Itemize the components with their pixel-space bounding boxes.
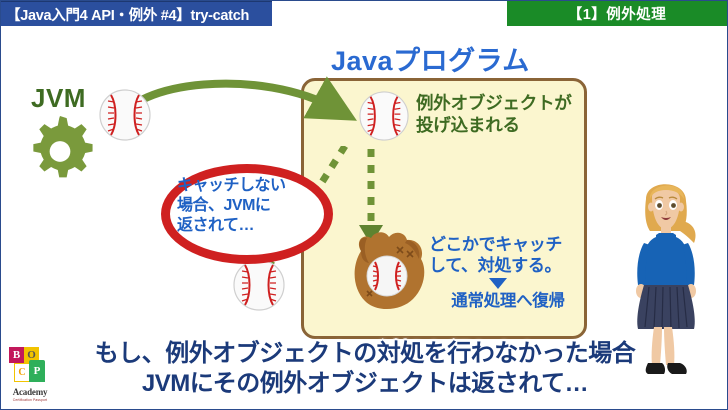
logo-block-p: P <box>29 360 45 382</box>
catch-text: どこかでキャッチ して、対処する。 <box>429 234 594 277</box>
jvm-label: JVM <box>31 83 86 114</box>
slide-root: 【Java入門4 API・例外 #4】try-catch 【1】例外処理 Jav… <box>0 0 728 410</box>
gear-icon <box>23 113 97 187</box>
callout-line-2: 場合、JVMに <box>177 196 327 216</box>
callout-line-1: キャッチしない <box>177 176 327 196</box>
callout-line-3: 返されて… <box>177 216 327 236</box>
catch-line-1: どこかでキャッチ <box>429 234 594 255</box>
logo-blocks: B O C P <box>7 346 53 386</box>
header-right-bar: 【1】例外処理 <box>507 1 727 26</box>
slide-caption: もし、例外オブジェクトの対処を行わなかった場合 JVMにその例外オブジェクトは返… <box>1 339 728 399</box>
callout-text: キャッチしない 場合、JVMに 返されて… <box>177 176 327 236</box>
baseball-icon <box>233 259 285 311</box>
caption-line-1: もし、例外オブジェクトの対処を行わなかった場合 <box>1 339 728 369</box>
baseball-icon <box>99 89 151 141</box>
baseball-icon <box>359 91 409 141</box>
catch-line-2: して、対処する。 <box>429 255 594 276</box>
caption-line-2: JVMにその例外オブジェクトは返されて… <box>1 369 728 399</box>
header-left-bar: 【Java入門4 API・例外 #4】try-catch <box>1 1 272 26</box>
logo-wordmark: Academy <box>6 387 54 397</box>
logo-block-b: B <box>9 347 24 363</box>
thrown-line-2: 投げ込まれる <box>416 115 591 137</box>
triangle-down-icon <box>489 278 507 289</box>
thrown-text: 例外オブジェクトが 投げ込まれる <box>416 93 591 137</box>
return-text: 通常処理へ復帰 <box>423 292 593 312</box>
logo-block-c: C <box>14 363 30 382</box>
baseball-glove-icon <box>345 229 429 317</box>
section-title: 【1】例外処理 <box>568 3 667 24</box>
thrown-line-1: 例外オブジェクトが <box>416 93 591 115</box>
bcp-academy-logo: B O C P Academy Certification Passport <box>6 346 54 406</box>
logo-subtitle: Certification Passport <box>6 398 54 402</box>
lesson-title: 【Java入門4 API・例外 #4】try-catch <box>1 4 249 25</box>
